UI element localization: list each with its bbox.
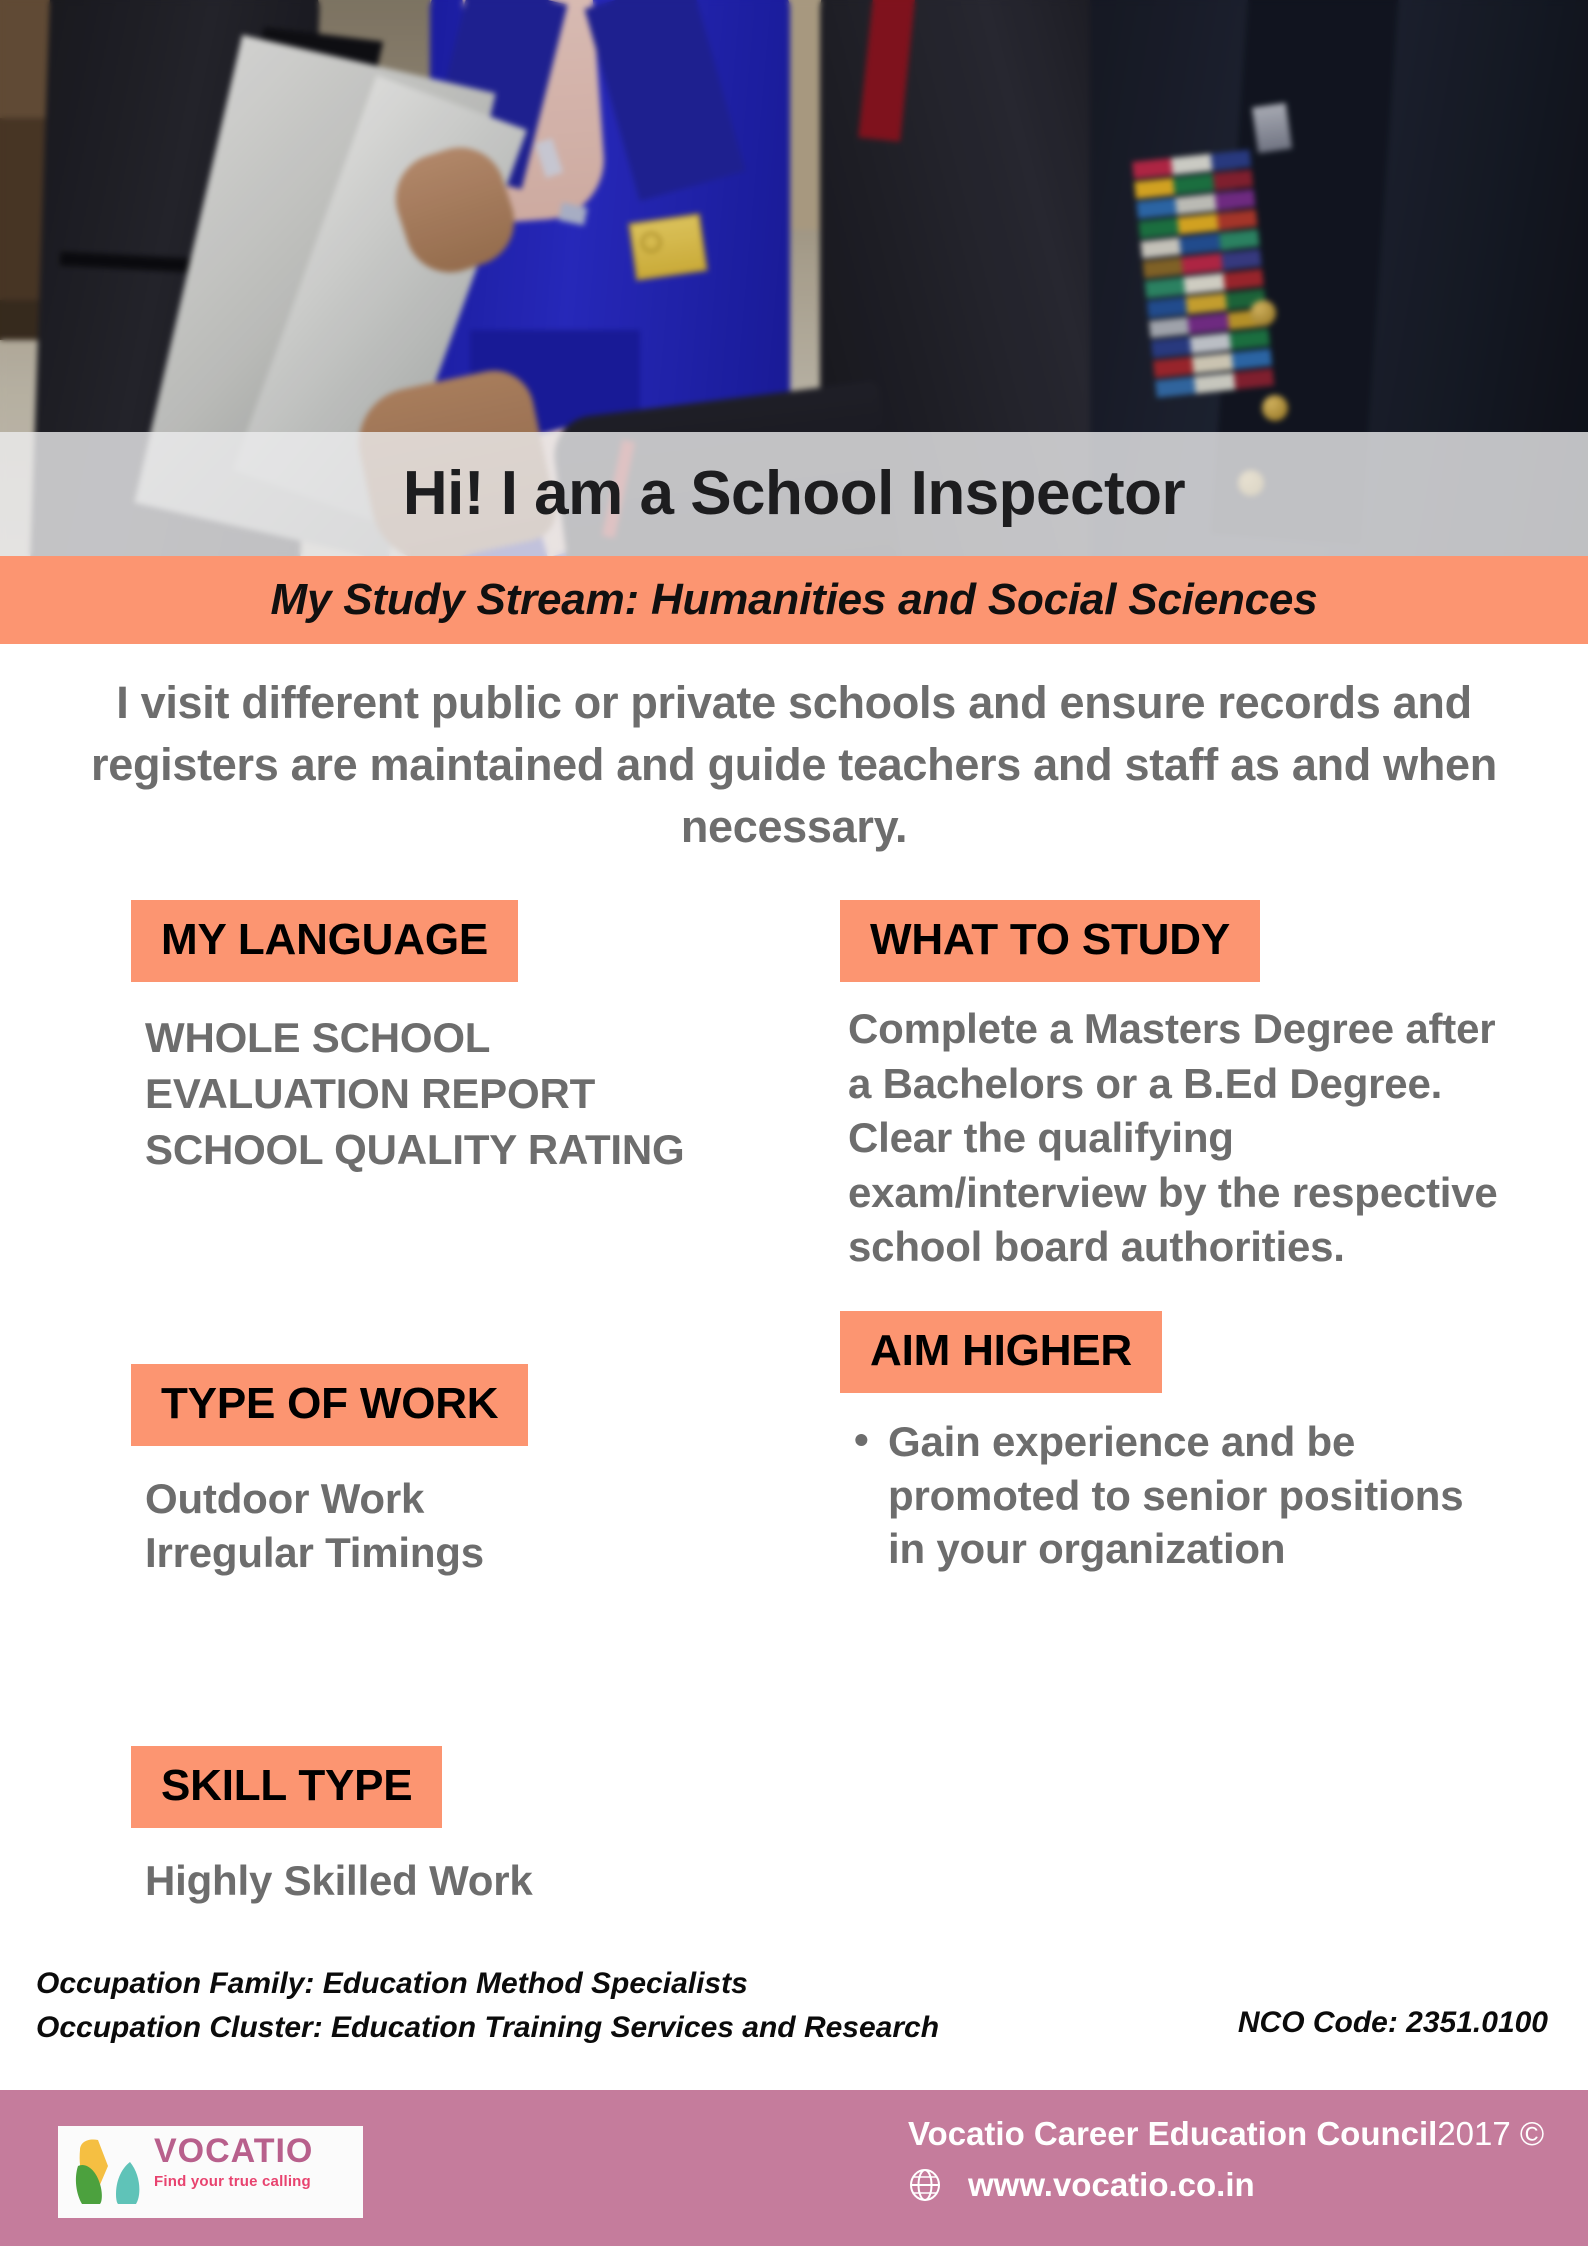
list-item: Irregular Timings [145,1526,791,1581]
list-item: Outdoor Work [145,1472,791,1527]
footer-bar: VOCATIO Find your true calling Vocatio C… [0,2090,1588,2246]
section-body-what-to-study: Complete a Masters Degree after a Bachel… [840,982,1500,1275]
section-body-my-language: WHOLE SCHOOL EVALUATION REPORT SCHOOL QU… [131,982,791,1178]
occupation-family: Occupation Family: Education Method Spec… [36,1962,1556,2006]
footer-council-name: Vocatio Career Education Council [908,2115,1437,2152]
vocatio-logo-tagline: Find your true calling [154,2173,313,2190]
left-column: MY LANGUAGE WHOLE SCHOOL EVALUATION REPO… [131,900,791,1908]
study-stream-label: My Study Stream: Humanities and Social S… [271,575,1318,625]
section-body-skill-type: Highly Skilled Work [131,1828,791,1909]
list-item: Gain experience and be promoted to senio… [848,1415,1500,1576]
section-heading-what-to-study: WHAT TO STUDY [840,900,1260,982]
section-what-to-study: WHAT TO STUDY Complete a Masters Degree … [840,900,1500,1275]
nco-code: NCO Code: 2351.0100 [1238,2006,1548,2040]
vocatio-logo-name: VOCATIO [154,2134,313,2170]
globe-icon [908,2168,942,2202]
page-title: Hi! I am a School Inspector [403,463,1185,525]
footer-year: 2017 © [1437,2115,1544,2152]
section-type-of-work: TYPE OF WORK Outdoor Work Irregular Timi… [131,1364,791,1581]
list-item: SCHOOL QUALITY RATING [145,1122,791,1178]
vocatio-logo-text: VOCATIO Find your true calling [154,2134,313,2190]
footer-council-line: Vocatio Career Education Council2017 © [908,2116,1528,2152]
list-item: WHOLE SCHOOL [145,1010,791,1066]
footer-website-line[interactable]: www.vocatio.co.in [908,2166,1528,2204]
right-column: WHAT TO STUDY Complete a Masters Degree … [840,900,1500,1576]
section-heading-aim-higher: AIM HIGHER [840,1311,1162,1393]
section-aim-higher: AIM HIGHER Gain experience and be promot… [840,1311,1500,1576]
list-item: EVALUATION REPORT [145,1066,791,1122]
list-item: Complete a Masters Degree after a Bachel… [848,1002,1500,1111]
section-heading-type-of-work: TYPE OF WORK [131,1364,528,1446]
section-my-language: MY LANGUAGE WHOLE SCHOOL EVALUATION REPO… [131,900,791,1178]
section-body-type-of-work: Outdoor Work Irregular Timings [131,1446,791,1581]
section-skill-type: SKILL TYPE Highly Skilled Work [131,1746,791,1909]
intro-description: I visit different public or private scho… [60,672,1528,858]
list-item: Clear the qualifying exam/interview by t… [848,1111,1500,1275]
footer-credits: Vocatio Career Education Council2017 © w… [908,2116,1528,2204]
occupation-metadata: Occupation Family: Education Method Spec… [36,1962,1556,2049]
section-heading-skill-type: SKILL TYPE [131,1746,442,1828]
study-stream-band: My Study Stream: Humanities and Social S… [0,556,1588,644]
section-body-aim-higher: Gain experience and be promoted to senio… [840,1393,1500,1576]
page-title-bar: Hi! I am a School Inspector [0,432,1588,556]
footer-website-url[interactable]: www.vocatio.co.in [968,2166,1255,2204]
section-heading-my-language: MY LANGUAGE [131,900,518,982]
vocatio-logo[interactable]: VOCATIO Find your true calling [58,2126,363,2218]
list-item: Highly Skilled Work [145,1854,791,1909]
vocatio-logo-mark-icon [72,2136,146,2208]
